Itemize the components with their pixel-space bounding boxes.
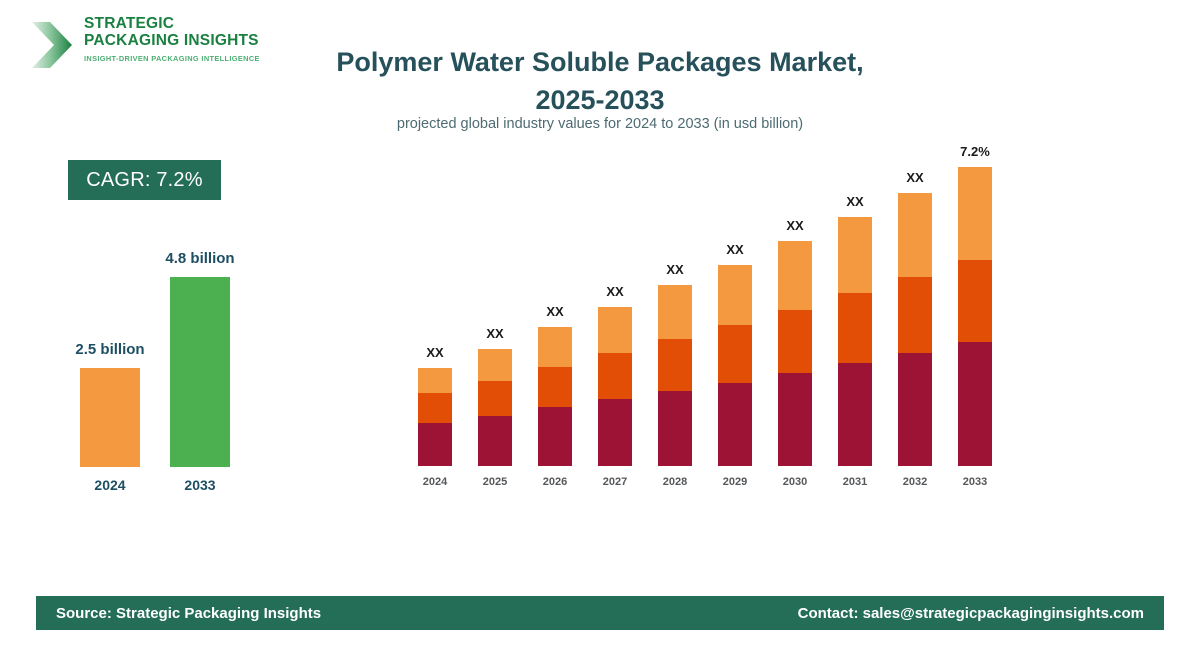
stacked-bar-segment xyxy=(838,217,872,293)
stacked-bar-segment xyxy=(478,349,512,381)
stacked-bar-segment xyxy=(478,381,512,416)
stacked-bar-top-label: XX xyxy=(825,194,885,209)
footer-source: Source: Strategic Packaging Insights xyxy=(56,605,321,622)
stacked-bar-segment xyxy=(478,416,512,466)
stacked-bar-segment xyxy=(538,327,572,367)
stacked-bar-top-label: XX xyxy=(705,242,765,257)
stacked-bar xyxy=(478,349,512,466)
stacked-bar-segment xyxy=(898,277,932,353)
stacked-bar-segment xyxy=(418,393,452,423)
stacked-bar-segment xyxy=(838,293,872,363)
stacked-bar-top-label: XX xyxy=(525,304,585,319)
stacked-bar-segment xyxy=(958,342,992,466)
stacked-bar xyxy=(838,217,872,466)
stacked-bar xyxy=(418,368,452,466)
stacked-bar xyxy=(658,285,692,466)
stacked-bar-segment xyxy=(778,241,812,310)
stacked-bar-segment xyxy=(718,383,752,466)
stacked-bar xyxy=(958,167,992,466)
stacked-bar-segment xyxy=(898,353,932,466)
stacked-bar-segment xyxy=(778,373,812,466)
stacked-bar-year-label: 2026 xyxy=(528,476,582,488)
stacked-bar-segment xyxy=(598,353,632,399)
stacked-bar-segment xyxy=(958,260,992,342)
stacked-bar-top-label: 7.2% xyxy=(945,144,1005,159)
yearly-forecast-stacked-chart: XX2024XX2025XX2026XX2027XX2028XX2029XX20… xyxy=(0,0,1200,580)
stacked-bar-top-label: XX xyxy=(885,170,945,185)
stacked-bar-top-label: XX xyxy=(645,262,705,277)
stacked-bar-segment xyxy=(778,310,812,373)
stacked-bar-year-label: 2025 xyxy=(468,476,522,488)
stacked-bar-segment xyxy=(958,167,992,260)
stacked-bar-segment xyxy=(418,368,452,393)
stacked-bar-year-label: 2030 xyxy=(768,476,822,488)
stacked-bar-segment xyxy=(718,325,752,383)
footer-bar: Source: Strategic Packaging Insights Con… xyxy=(36,596,1164,630)
stacked-bar-segment xyxy=(538,407,572,466)
chart-infographic: STRATEGIC PACKAGING INSIGHTS INSIGHT-DRI… xyxy=(0,0,1200,650)
stacked-bar-segment xyxy=(898,193,932,277)
stacked-bar-year-label: 2027 xyxy=(588,476,642,488)
stacked-bar xyxy=(778,241,812,466)
stacked-bar-segment xyxy=(658,339,692,391)
stacked-bar xyxy=(898,193,932,466)
stacked-bar-segment xyxy=(598,307,632,353)
stacked-bar-year-label: 2029 xyxy=(708,476,762,488)
stacked-bar xyxy=(538,327,572,466)
stacked-bar-year-label: 2031 xyxy=(828,476,882,488)
stacked-bar-segment xyxy=(538,367,572,407)
stacked-bar-year-label: 2028 xyxy=(648,476,702,488)
footer-contact: Contact: sales@strategicpackaginginsight… xyxy=(798,605,1144,622)
stacked-bar-top-label: XX xyxy=(765,218,825,233)
stacked-bar-segment xyxy=(658,285,692,339)
stacked-bar-year-label: 2024 xyxy=(408,476,462,488)
stacked-bar-top-label: XX xyxy=(405,345,465,360)
stacked-bar-segment xyxy=(658,391,692,466)
stacked-bar-segment xyxy=(718,265,752,325)
stacked-bar-year-label: 2033 xyxy=(948,476,1002,488)
stacked-bar-top-label: XX xyxy=(465,326,525,341)
stacked-bar-segment xyxy=(838,363,872,466)
stacked-bar-segment xyxy=(418,423,452,466)
stacked-bar-segment xyxy=(598,399,632,466)
stacked-bar xyxy=(718,265,752,466)
stacked-bar xyxy=(598,307,632,466)
stacked-bar-top-label: XX xyxy=(585,284,645,299)
stacked-bar-year-label: 2032 xyxy=(888,476,942,488)
